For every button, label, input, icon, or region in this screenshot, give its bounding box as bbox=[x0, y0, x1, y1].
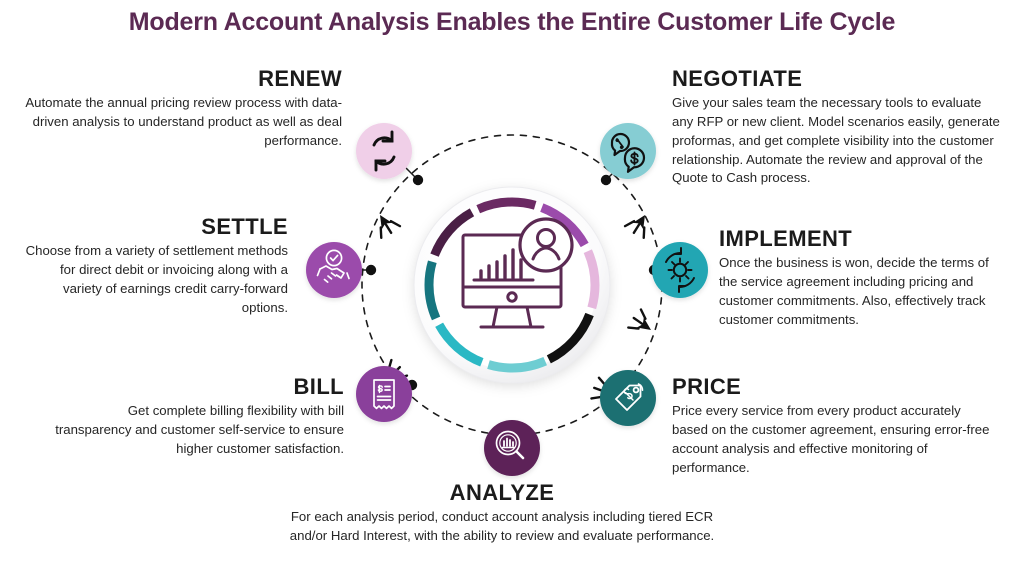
stage-heading-analyze: ANALYZE bbox=[272, 480, 732, 505]
orbit-node-negotiate bbox=[601, 175, 611, 185]
infographic-canvas: Modern Account Analysis Enables the Enti… bbox=[0, 0, 1024, 576]
stage-body-renew: Automate the annual pricing review proce… bbox=[22, 94, 342, 150]
stage-icon-negotiate[interactable] bbox=[600, 123, 656, 179]
stage-body-implement: Once the business is won, decide the ter… bbox=[719, 254, 1009, 329]
stage-icon-price[interactable] bbox=[600, 370, 656, 426]
stage-icon-renew[interactable] bbox=[356, 123, 412, 179]
stage-icon-settle[interactable] bbox=[306, 242, 362, 298]
stage-body-analyze: For each analysis period, conduct accoun… bbox=[272, 508, 732, 545]
stage-body-settle: Choose from a variety of settlement meth… bbox=[22, 242, 288, 317]
page-title: Modern Account Analysis Enables the Enti… bbox=[0, 8, 1024, 37]
stage-block-price: PRICE Price every service from every pro… bbox=[672, 374, 992, 477]
stage-block-renew: RENEW Automate the annual pricing review… bbox=[22, 66, 342, 151]
stage-heading-settle: SETTLE bbox=[22, 214, 288, 239]
stage-body-price: Price every service from every product a… bbox=[672, 402, 992, 477]
stage-body-bill: Get complete billing flexibility with bi… bbox=[48, 402, 344, 458]
stage-heading-renew: RENEW bbox=[22, 66, 342, 91]
stage-heading-price: PRICE bbox=[672, 374, 992, 399]
stage-block-analyze: ANALYZE For each analysis period, conduc… bbox=[272, 480, 732, 546]
stage-block-negotiate: NEGOTIATE Give your sales team the neces… bbox=[672, 66, 1002, 188]
stage-icon-bill[interactable] bbox=[356, 366, 412, 422]
stage-body-negotiate: Give your sales team the necessary tools… bbox=[672, 94, 1002, 188]
stage-block-bill: BILL Get complete billing flexibility wi… bbox=[48, 374, 344, 459]
stage-block-implement: IMPLEMENT Once the business is won, deci… bbox=[719, 226, 1009, 329]
stage-heading-bill: BILL bbox=[48, 374, 344, 399]
stage-block-settle: SETTLE Choose from a variety of settleme… bbox=[22, 214, 288, 317]
stage-icon-implement[interactable] bbox=[652, 242, 708, 298]
orbit-node-settle bbox=[366, 265, 376, 275]
stage-heading-negotiate: NEGOTIATE bbox=[672, 66, 1002, 91]
stage-heading-implement: IMPLEMENT bbox=[719, 226, 1009, 251]
center-ring-segments bbox=[429, 202, 595, 368]
orbit-node-renew bbox=[413, 175, 423, 185]
monitor-analytics-user-icon bbox=[463, 219, 572, 327]
stage-icon-analyze[interactable] bbox=[484, 420, 540, 476]
center-hub bbox=[414, 187, 610, 383]
